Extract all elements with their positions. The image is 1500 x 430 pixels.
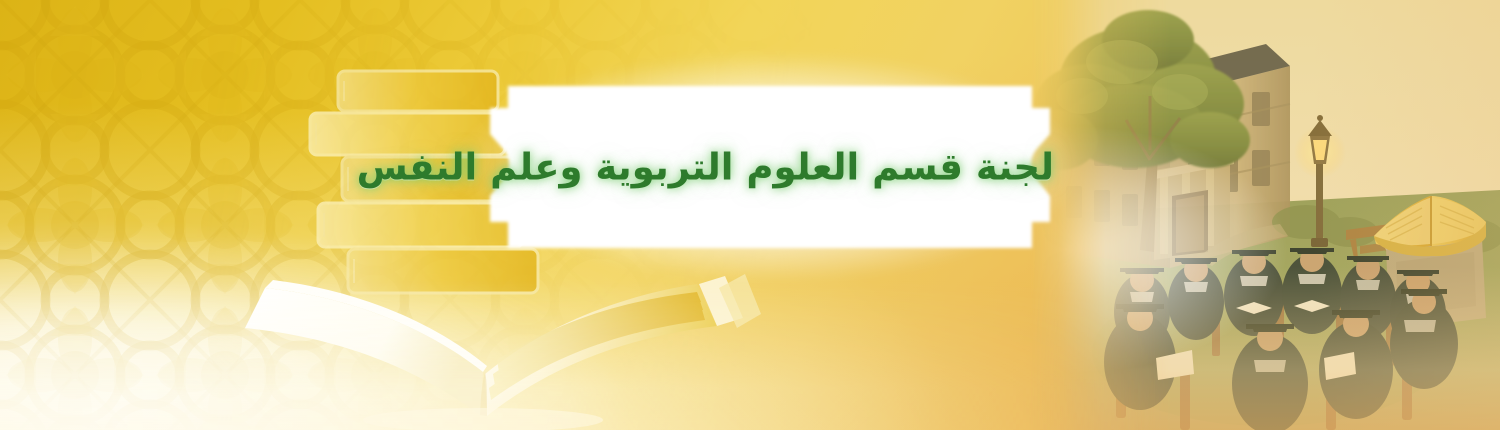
- campus-scene-illustration: [1030, 0, 1500, 430]
- department-banner: لجنة قسم العلوم التربوية وعلم النفس: [0, 0, 1500, 430]
- title-plaque: لجنة قسم العلوم التربوية وعلم النفس: [470, 72, 1070, 262]
- page-title: لجنة قسم العلوم التربوية وعلم النفس: [470, 144, 1070, 189]
